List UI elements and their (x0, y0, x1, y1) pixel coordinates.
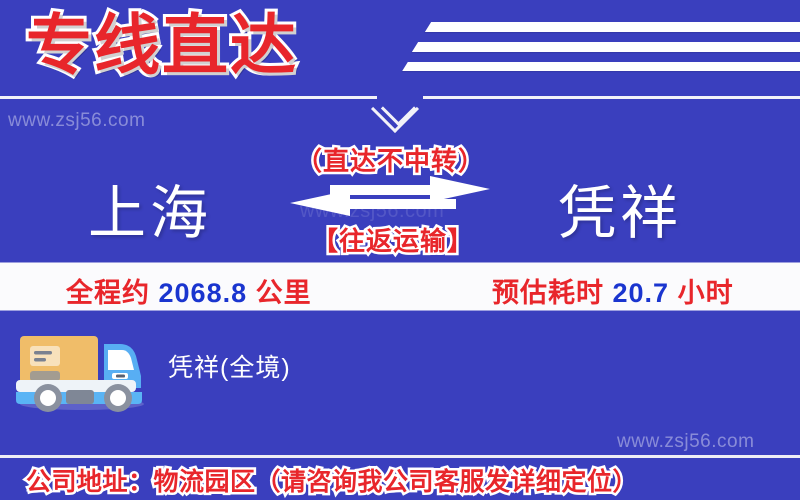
delivery-truck-icon (8, 318, 158, 414)
watermark-bottom: www.zsj56.com (617, 431, 754, 453)
duration-unit: 小时 (678, 278, 734, 308)
duration-metric: 预估耗时 20.7 小时 (492, 271, 734, 310)
distance-unit: 公里 (256, 278, 312, 308)
logistics-banner: 专线直达 www.zsj56.com www.zsj56.com www.zsj… (0, 0, 800, 500)
decorative-stripe (402, 62, 800, 71)
company-address: 公司地址：物流园区（请咨询我公司客服发详细定位） (26, 462, 638, 498)
page-title: 专线直达 (26, 4, 298, 87)
decorative-stripe (425, 22, 800, 32)
distance-value: 2068.8 (159, 278, 248, 308)
duration-label: 预估耗时 (492, 278, 604, 308)
direct-route-badge: （直达不中转） (296, 141, 485, 178)
duration-value: 20.7 (613, 278, 670, 308)
coverage-area-label: 凭祥(全境) (168, 348, 291, 384)
arrow-left-icon (290, 190, 350, 216)
distance-label: 全程约 (66, 278, 150, 308)
footer-divider (0, 455, 800, 458)
distance-metric: 全程约 2068.8 公里 (66, 271, 312, 310)
decorative-stripe (412, 42, 800, 52)
arrow-left-icon (348, 199, 456, 209)
round-trip-badge: 【往返运输】 (312, 221, 474, 258)
destination-city: 凭祥 (558, 166, 682, 250)
header-divider-right (423, 96, 800, 99)
header-divider-left (0, 96, 377, 99)
origin-city: 上海 (88, 166, 212, 250)
metrics-strip: 全程约 2068.8 公里 预估耗时 20.7 小时 (0, 263, 800, 310)
watermark-top: www.zsj56.com (8, 110, 145, 132)
